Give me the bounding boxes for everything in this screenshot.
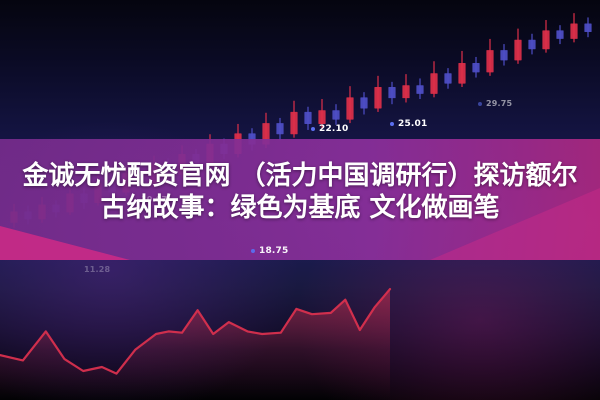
headline-line-2: 古纳故事：绿色为基底 文化做画笔 <box>0 193 600 225</box>
banner-image: 22.1025.0129.7518.7510.0711.28 金诚无忧配资官网 … <box>0 0 600 400</box>
price-label-text: 18.75 <box>259 246 288 256</box>
label-marker-dot <box>390 122 394 126</box>
label-marker-dot <box>251 249 255 253</box>
label-marker-dot <box>311 127 315 131</box>
label-18-75: 18.75 <box>251 246 288 256</box>
label-marker-dot <box>478 102 482 106</box>
page-title: 金诚无忧配资官网 （活力中国调研行）探访额尔 古纳故事：绿色为基底 文化做画笔 <box>0 161 600 224</box>
trend-line-series <box>0 289 390 400</box>
label-11-28: 11.28 <box>84 265 110 274</box>
price-label-text: 11.28 <box>84 265 110 274</box>
price-label-text: 22.10 <box>319 124 348 134</box>
headline-line-1: 金诚无忧配资官网 （活力中国调研行）探访额尔 <box>0 161 600 193</box>
price-label-text: 29.75 <box>486 99 512 108</box>
label-22-10: 22.10 <box>311 124 348 134</box>
price-label-text: 25.01 <box>398 119 427 129</box>
label-25-01: 25.01 <box>390 119 427 129</box>
label-29-75: 29.75 <box>478 99 512 108</box>
